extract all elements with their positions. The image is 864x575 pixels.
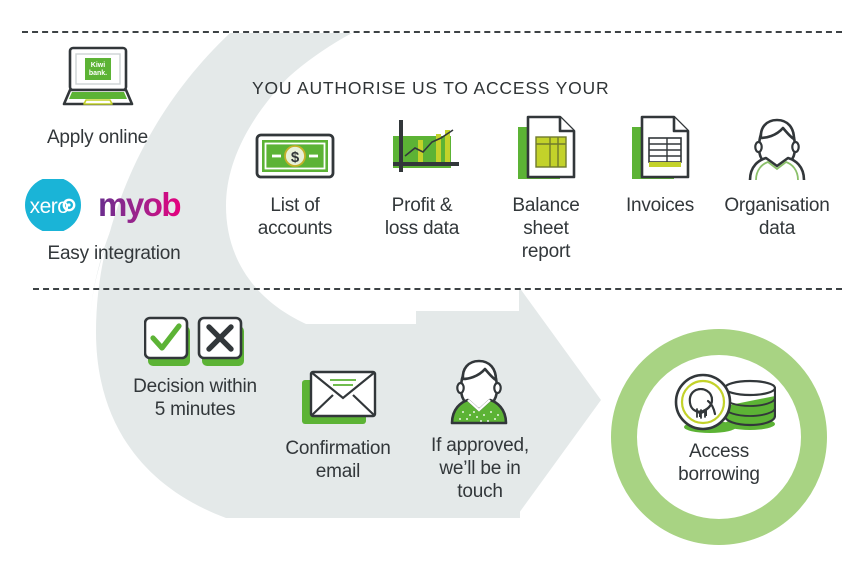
label-line-1: List of <box>235 194 355 217</box>
label-line-2: accounts <box>235 217 355 240</box>
person-green-shirt-icon <box>443 357 515 425</box>
infographic-canvas: Kiwi bank. Apply online xero myob Easy i… <box>0 0 864 575</box>
svg-text:xero: xero <box>30 195 69 218</box>
profit-loss-label: Profit & loss data <box>362 194 482 240</box>
label-line-2: loss data <box>362 217 482 240</box>
easy-integration-label: Easy integration <box>0 242 228 265</box>
label-line-3: report <box>492 240 600 263</box>
document-icon <box>512 113 584 185</box>
label-line-3: touch <box>412 480 548 503</box>
balance-sheet-label: Balance sheet report <box>492 194 600 263</box>
label-line-2: borrowing <box>646 463 792 486</box>
divider-middle <box>33 288 842 290</box>
list-of-accounts-label: List of accounts <box>235 194 355 240</box>
label-line-1: Profit & <box>362 194 482 217</box>
label-line-1: Balance <box>492 194 600 217</box>
label-line-1: Organisation <box>712 194 842 217</box>
label-line-1: Decision within <box>110 375 280 398</box>
label-line-2: we’ll be in <box>412 457 548 480</box>
label-line-2: sheet <box>492 217 600 240</box>
decision-label: Decision within 5 minutes <box>110 375 280 421</box>
label-line-1: Access <box>646 440 792 463</box>
invoice-icon <box>626 113 698 185</box>
label-line-2: data <box>712 217 842 240</box>
laptop-icon: Kiwi bank. <box>50 46 145 108</box>
access-borrowing-label: Access borrowing <box>646 440 792 486</box>
if-approved-label: If approved, we’ll be in touch <box>412 434 548 503</box>
label-line-1: Confirmation <box>263 437 413 460</box>
divider-top <box>22 31 842 33</box>
label-line-2: email <box>263 460 413 483</box>
svg-text:bank.: bank. <box>89 70 107 77</box>
integration-logos: xero myob <box>22 179 202 231</box>
invoices-label: Invoices <box>605 194 715 217</box>
outcome-ring <box>608 326 830 548</box>
label-line-2: 5 minutes <box>110 398 280 421</box>
myob-logo: myob <box>98 186 180 223</box>
decision-icons <box>144 316 252 368</box>
apply-online-label: Apply online <box>0 126 195 149</box>
bar-chart-icon <box>385 118 463 180</box>
authorise-heading: YOU AUTHORISE US TO ACCESS YOUR <box>252 78 609 99</box>
label-line-1: If approved, <box>412 434 548 457</box>
confirmation-email-label: Confirmation email <box>263 437 413 483</box>
person-icon <box>742 114 812 182</box>
coins-kiwi-icon <box>666 372 776 434</box>
envelope-icon <box>300 369 380 429</box>
banknote-icon: $ <box>255 132 335 180</box>
organisation-data-label: Organisation data <box>712 194 842 240</box>
svg-text:Kiwi: Kiwi <box>91 62 105 69</box>
svg-text:$: $ <box>291 149 300 166</box>
